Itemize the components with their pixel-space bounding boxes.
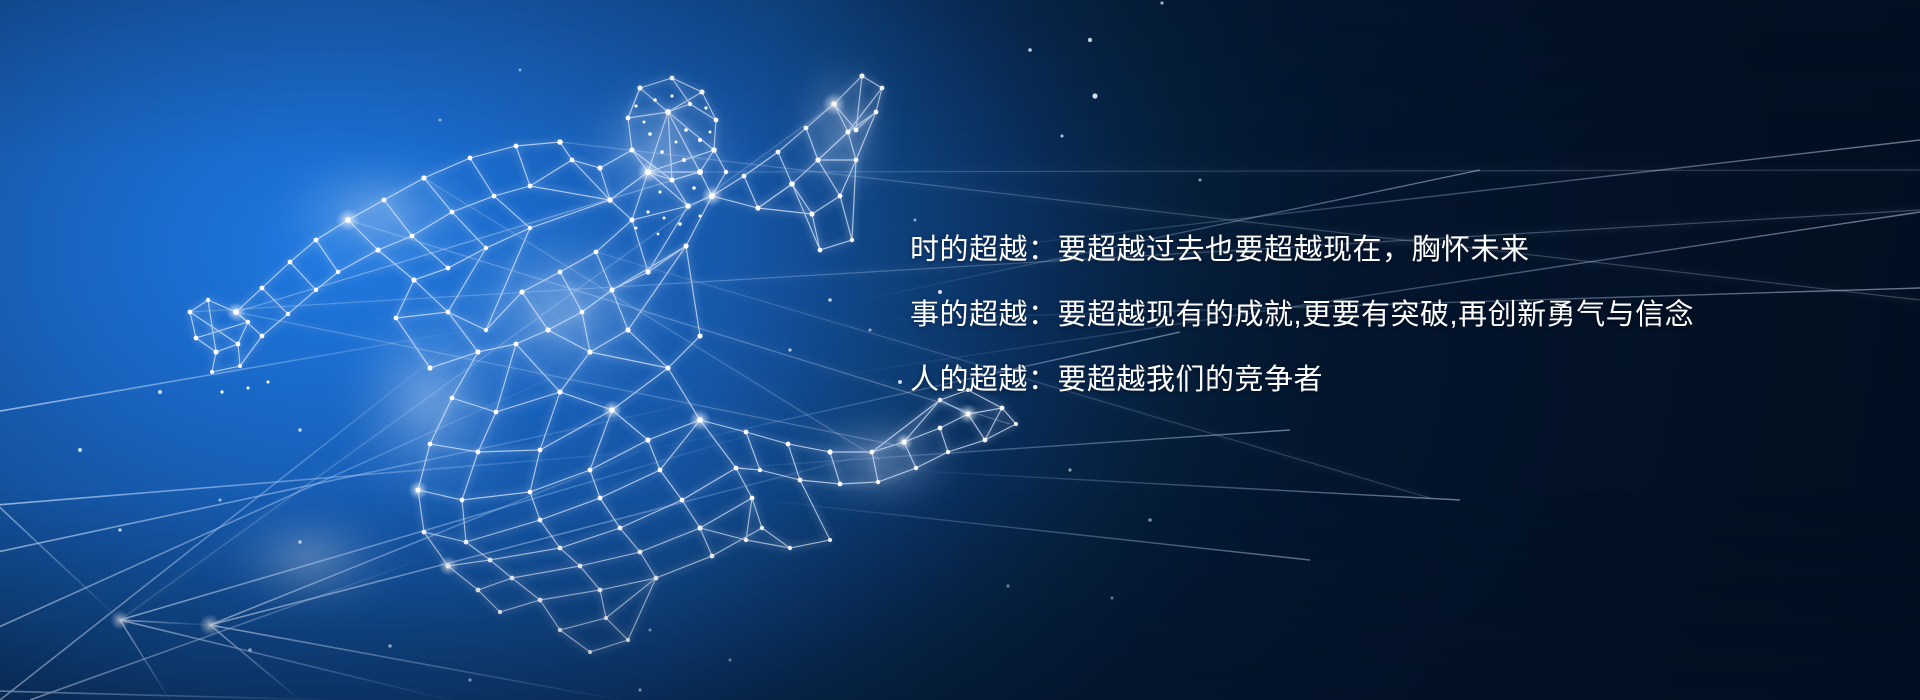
tagline-time: 时的超越：要超越过去也要超越现在，胸怀未来 [910,236,1790,265]
tagline-matter: 事的超越：要超越现有的成就,更要有突破,再创新勇气与信念 [910,301,1790,330]
hero-banner: 时的超越：要超越过去也要超越现在，胸怀未来 事的超越：要超越现有的成就,更要有突… [0,0,1920,700]
tagline-block: 时的超越：要超越过去也要超越现在，胸怀未来 事的超越：要超越现有的成就,更要有突… [910,236,1790,395]
tagline-people: 人的超越：要超越我们的竞争者 [910,366,1790,395]
